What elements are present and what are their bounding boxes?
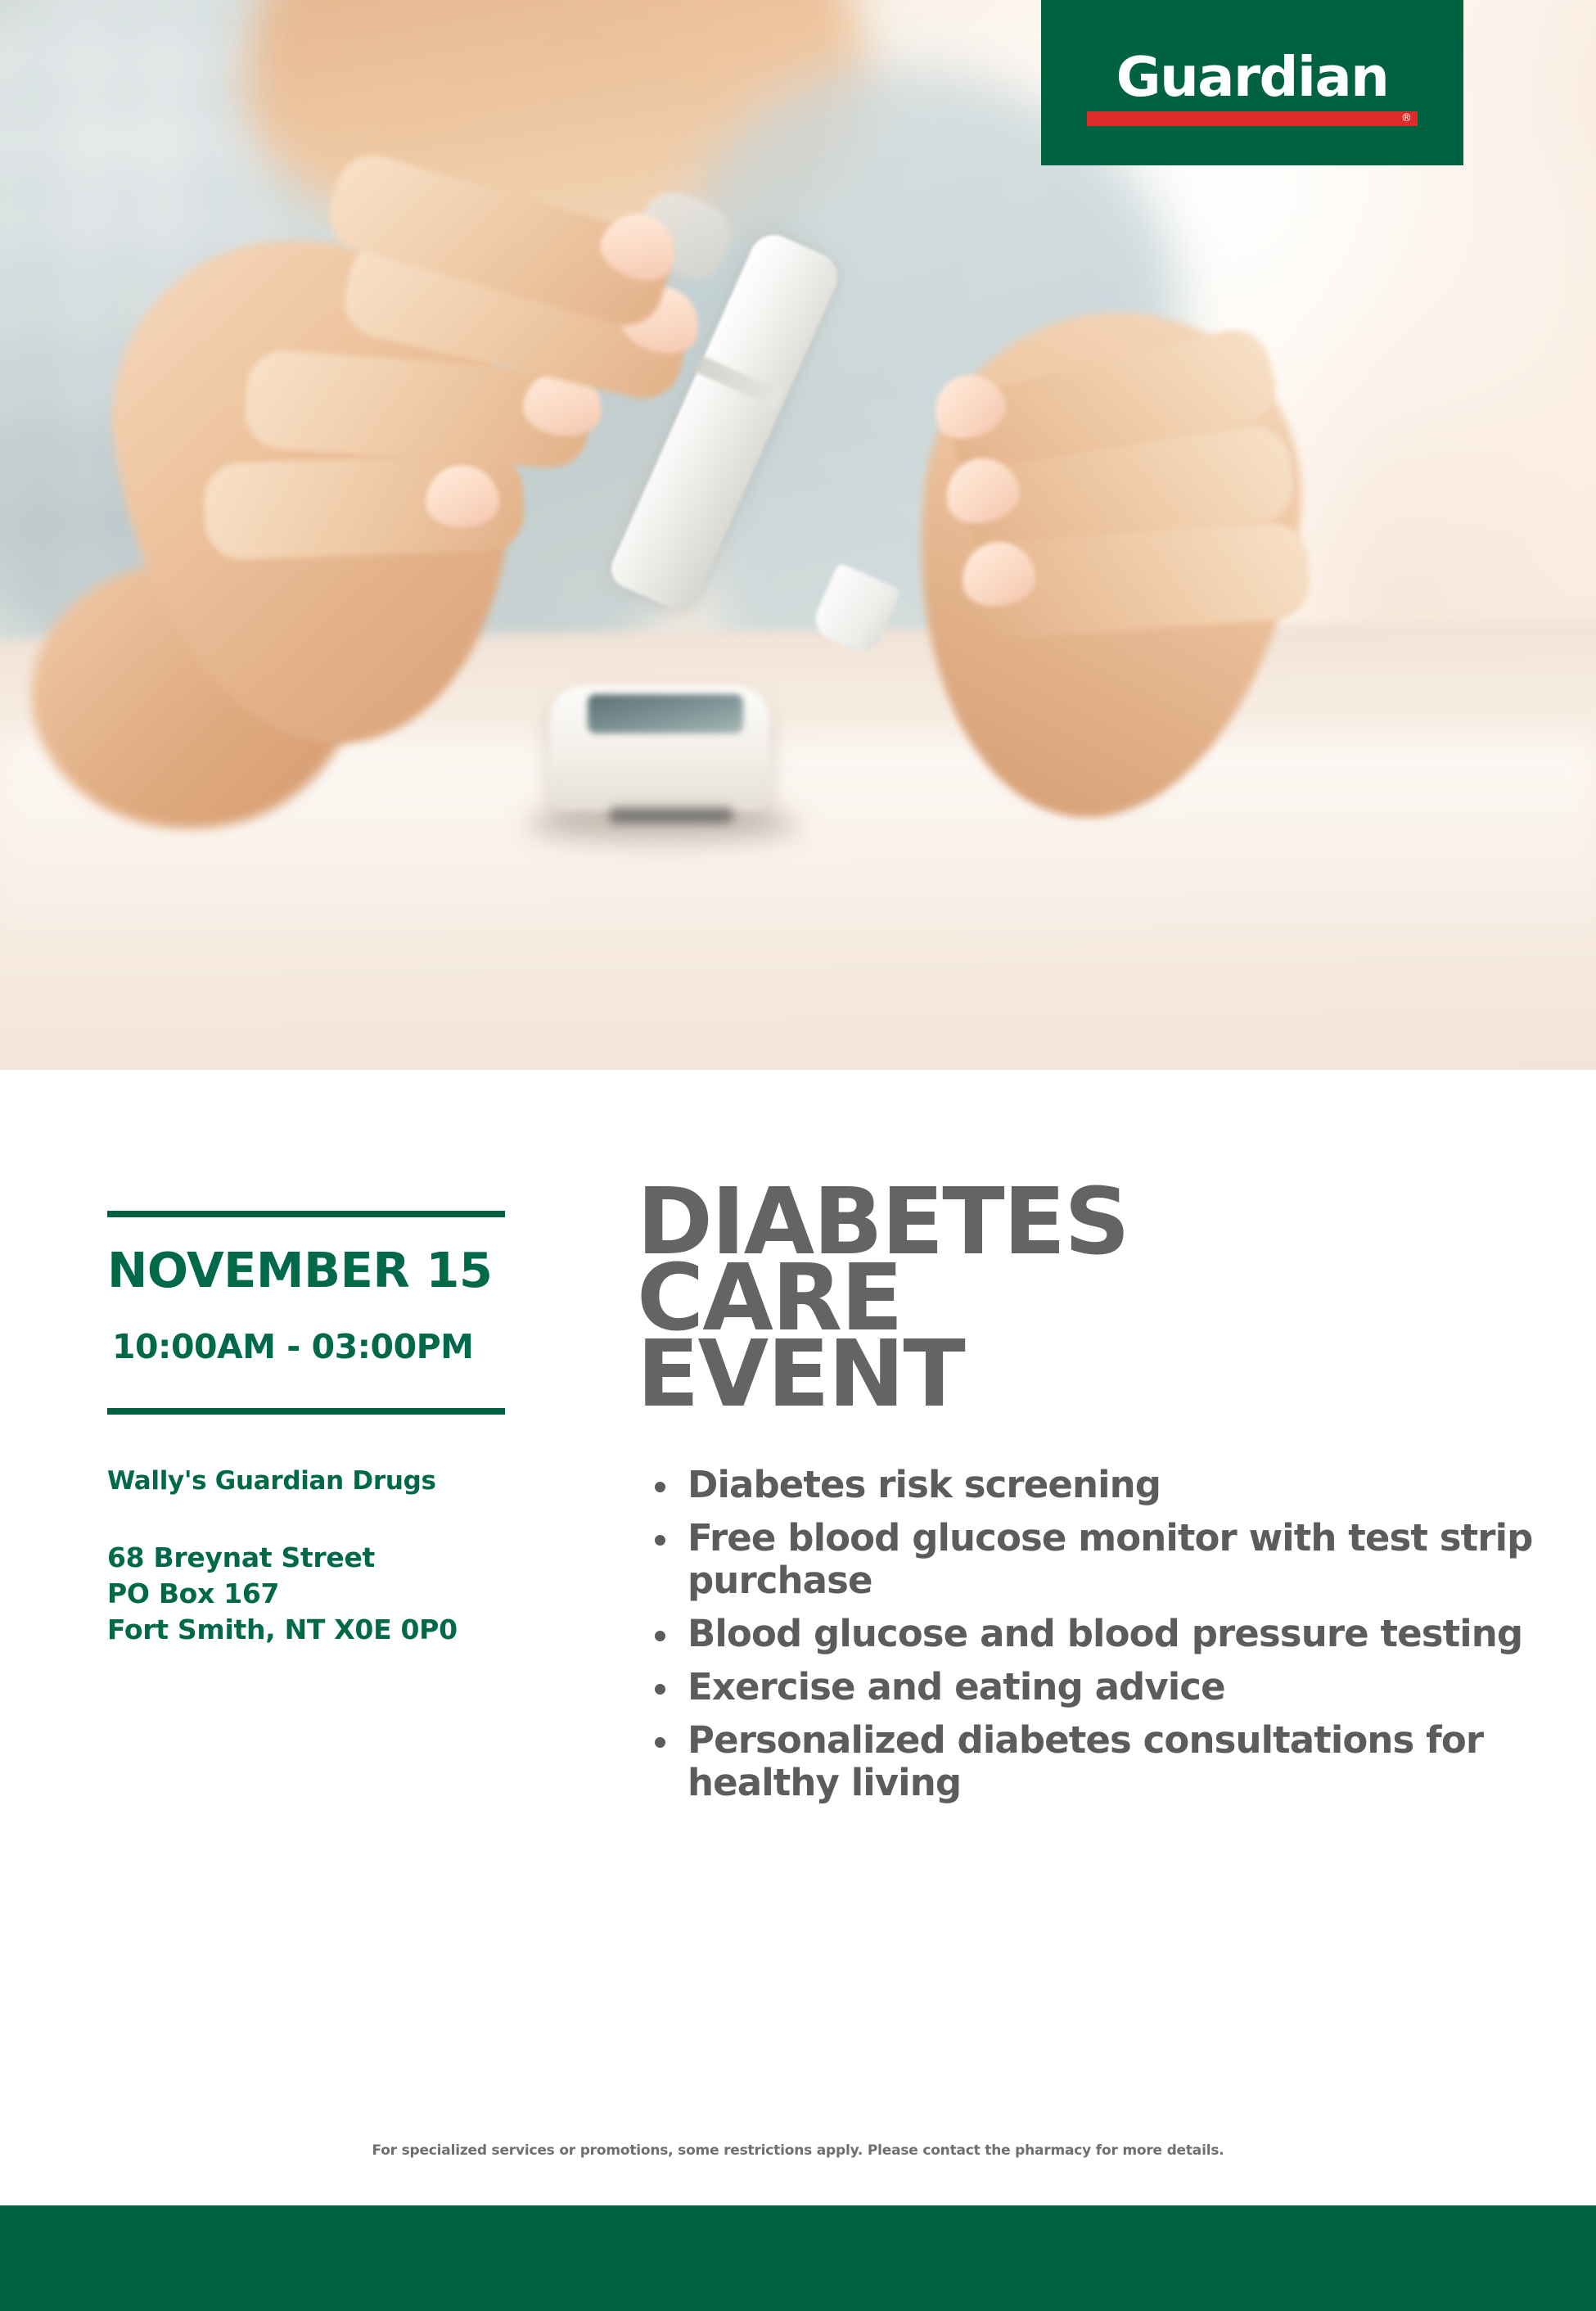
footer-green-bar: [0, 2205, 1596, 2311]
details-top-rule: [107, 1211, 505, 1217]
page-title: DIABETES CARE EVENT: [637, 1185, 1545, 1413]
services-list: Diabetes risk screening Free blood gluco…: [637, 1464, 1545, 1804]
guardian-logo-bar: ®: [1087, 111, 1418, 126]
store-address: 68 Breynat Street PO Box 167 Fort Smith,…: [107, 1540, 516, 1648]
list-item: Personalized diabetes consultations for …: [637, 1719, 1545, 1804]
guardian-logo: Guardian ®: [1041, 0, 1463, 165]
address-line-3: Fort Smith, NT X0E 0P0: [107, 1612, 516, 1648]
main-content-block: DIABETES CARE EVENT Diabetes risk screen…: [637, 1185, 1545, 1817]
title-line-3: EVENT: [637, 1337, 1545, 1413]
address-line-1: 68 Breynat Street: [107, 1540, 516, 1576]
details-bottom-rule: [107, 1408, 505, 1415]
diabetes-care-event-poster: Guardian ® NOVEMBER 15 10:00AM - 03:00PM…: [0, 0, 1596, 2311]
guardian-logo-red-bar: [1087, 111, 1418, 126]
list-item: Exercise and eating advice: [637, 1666, 1545, 1708]
poster-body: NOVEMBER 15 10:00AM - 03:00PM Wally's Gu…: [0, 1070, 1596, 2205]
glucose-meter-test-strip: [610, 807, 733, 824]
guardian-logo-wordmark: Guardian: [1116, 50, 1389, 105]
glucose-meter-screen: [588, 694, 743, 733]
list-item: Blood glucose and blood pressure testing: [637, 1613, 1545, 1655]
disclaimer-text: For specialized services or promotions, …: [0, 2142, 1596, 2159]
registered-trademark-icon: ®: [1401, 112, 1412, 125]
event-details-block: NOVEMBER 15 10:00AM - 03:00PM Wally's Gu…: [107, 1211, 516, 1648]
address-line-2: PO Box 167: [107, 1576, 516, 1612]
event-date: NOVEMBER 15: [107, 1246, 516, 1294]
list-item: Diabetes risk screening: [637, 1464, 1545, 1506]
list-item: Free blood glucose monitor with test str…: [637, 1517, 1545, 1602]
event-time: 10:00AM - 03:00PM: [112, 1330, 516, 1364]
store-name: Wally's Guardian Drugs: [107, 1469, 516, 1494]
